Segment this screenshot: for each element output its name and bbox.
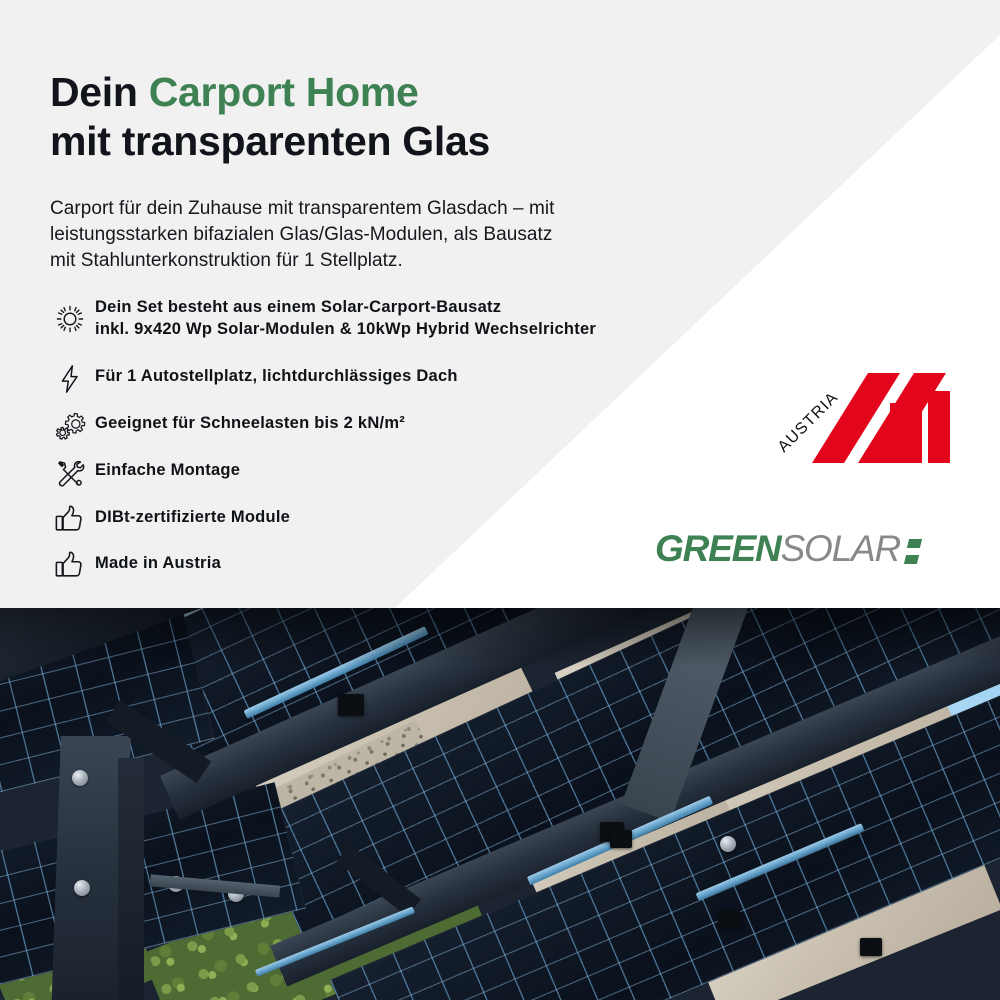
feature-label: DIBt-zertifizierte Module bbox=[94, 495, 290, 528]
feature-item: Geeignet für Schneelasten bis 2 kN/m² bbox=[46, 401, 776, 448]
product-photo bbox=[0, 608, 1000, 1000]
steel-column-edge bbox=[118, 758, 144, 1000]
product-feature-card: Dein Carport Home mit transparenten Glas… bbox=[0, 0, 1000, 1000]
info-panel: Dein Carport Home mit transparenten Glas… bbox=[0, 0, 1000, 608]
feature-item: Dein Set besteht aus einem Solar-Carport… bbox=[46, 292, 776, 354]
feature-label-line-1: Made in Austria bbox=[95, 552, 221, 574]
feature-label-line-2: inkl. 9x420 Wp Solar-Modulen & 10kWp Hyb… bbox=[95, 318, 596, 340]
feature-label: Made in Austria bbox=[94, 541, 221, 574]
feature-label-line-1: Dein Set besteht aus einem Solar-Carport… bbox=[95, 296, 596, 318]
feature-label-line-1: DIBt-zertifizierte Module bbox=[95, 506, 290, 528]
intro-line-3: mit Stahlunterkonstruktion für 1 Stellpl… bbox=[50, 248, 690, 274]
bolt bbox=[72, 770, 88, 786]
module-clamp bbox=[610, 830, 632, 848]
page-title-line-2: mit transparenten Glas bbox=[50, 117, 490, 166]
feature-item: Einfache Montage bbox=[46, 448, 776, 495]
lightning-bolt-icon bbox=[46, 359, 94, 399]
gears-icon bbox=[46, 406, 94, 446]
page-title-prefix: Dein bbox=[50, 69, 149, 115]
made-in-austria-badge: AUSTRIA bbox=[772, 355, 952, 480]
tools-icon bbox=[46, 453, 94, 493]
feature-label: Dein Set besteht aus einem Solar-Carport… bbox=[94, 292, 596, 340]
module-clamp bbox=[718, 910, 740, 928]
intro-line-2: leistungsstarken bifazialen Glas/Glas-Mo… bbox=[50, 222, 690, 248]
intro-paragraph: Carport für dein Zuhause mit transparent… bbox=[50, 196, 690, 274]
thumbs-up-icon bbox=[46, 545, 94, 585]
intro-line-1: Carport für dein Zuhause mit transparent… bbox=[50, 196, 690, 222]
sun-icon bbox=[46, 299, 94, 339]
thumbs-up-icon bbox=[46, 499, 94, 539]
feature-label-line-1: Geeignet für Schneelasten bis 2 kN/m² bbox=[95, 412, 405, 434]
feature-label-line-1: Für 1 Autostellplatz, lichtdurchlässiges… bbox=[95, 365, 458, 387]
page-title-line-1: Dein Carport Home bbox=[50, 68, 490, 117]
page-title: Dein Carport Home mit transparenten Glas bbox=[50, 68, 490, 166]
bolt bbox=[720, 836, 736, 852]
greensolar-logo: GREENSOLAR bbox=[655, 530, 924, 574]
module-clamp bbox=[338, 694, 364, 716]
greensolar-logo-green: GREEN bbox=[655, 530, 781, 567]
feature-item: Für 1 Autostellplatz, lichtdurchlässiges… bbox=[46, 354, 776, 401]
feature-label: Einfache Montage bbox=[94, 448, 240, 481]
product-photo-scene bbox=[0, 608, 1000, 1000]
module-clamp bbox=[860, 938, 882, 956]
feature-label: Für 1 Autostellplatz, lichtdurchlässiges… bbox=[94, 354, 458, 387]
feature-label-line-1: Einfache Montage bbox=[95, 459, 240, 481]
greensolar-logo-colon-mark bbox=[906, 537, 924, 567]
page-title-accent: Carport Home bbox=[149, 69, 419, 115]
feature-label: Geeignet für Schneelasten bis 2 kN/m² bbox=[94, 401, 405, 434]
bolt bbox=[74, 880, 90, 896]
greensolar-logo-gray: SOLAR bbox=[781, 530, 900, 567]
